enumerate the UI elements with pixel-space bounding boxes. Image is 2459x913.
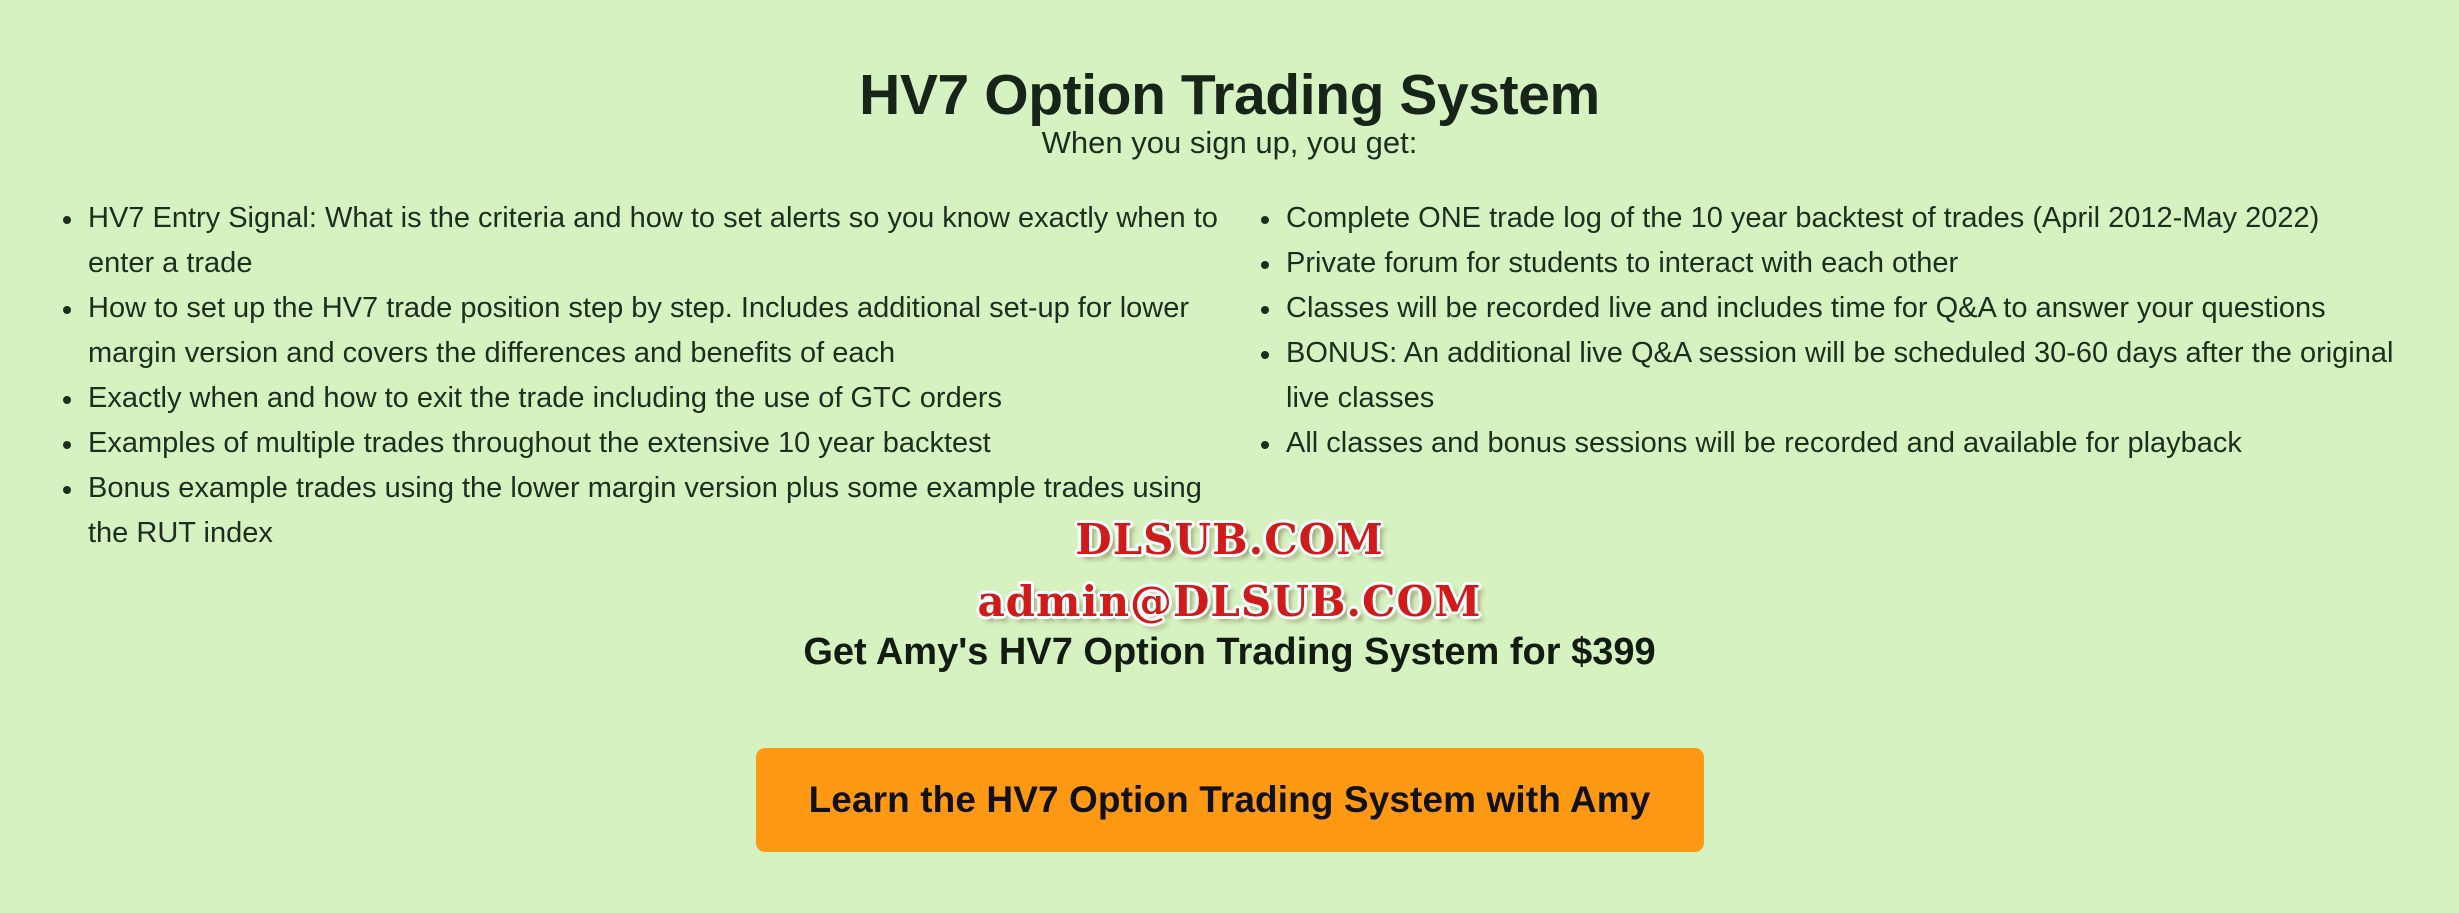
benefits-left-column: HV7 Entry Signal: What is the criteria a… <box>0 196 1240 556</box>
list-item: Classes will be recorded live and includ… <box>1250 286 2429 331</box>
list-item: Complete ONE trade log of the 10 year ba… <box>1250 196 2429 241</box>
list-item: Bonus example trades using the lower mar… <box>52 466 1230 556</box>
list-item: Exactly when and how to exit the trade i… <box>52 376 1230 421</box>
list-item: All classes and bonus sessions will be r… <box>1250 421 2429 466</box>
sales-page: HV7 Option Trading System When you sign … <box>0 0 2459 913</box>
page-title: HV7 Option Trading System <box>0 62 2459 128</box>
page-subtitle: When you sign up, you get: <box>0 124 2459 162</box>
watermark-email: admin@DLSUB.COM <box>0 578 2459 626</box>
benefits-right-list: Complete ONE trade log of the 10 year ba… <box>1250 196 2429 466</box>
list-item: HV7 Entry Signal: What is the criteria a… <box>52 196 1230 286</box>
benefits-right-column: Complete ONE trade log of the 10 year ba… <box>1240 196 2459 466</box>
benefits-left-list: HV7 Entry Signal: What is the criteria a… <box>52 196 1230 556</box>
benefits-columns: HV7 Entry Signal: What is the criteria a… <box>0 196 2459 556</box>
cta-container: Learn the HV7 Option Trading System with… <box>0 748 2459 852</box>
price-headline: Get Amy's HV7 Option Trading System for … <box>0 628 2459 676</box>
learn-hv7-cta-button[interactable]: Learn the HV7 Option Trading System with… <box>756 748 1704 852</box>
list-item: Examples of multiple trades throughout t… <box>52 421 1230 466</box>
list-item: How to set up the HV7 trade position ste… <box>52 286 1230 376</box>
list-item: BONUS: An additional live Q&A session wi… <box>1250 331 2429 421</box>
list-item: Private forum for students to interact w… <box>1250 241 2429 286</box>
